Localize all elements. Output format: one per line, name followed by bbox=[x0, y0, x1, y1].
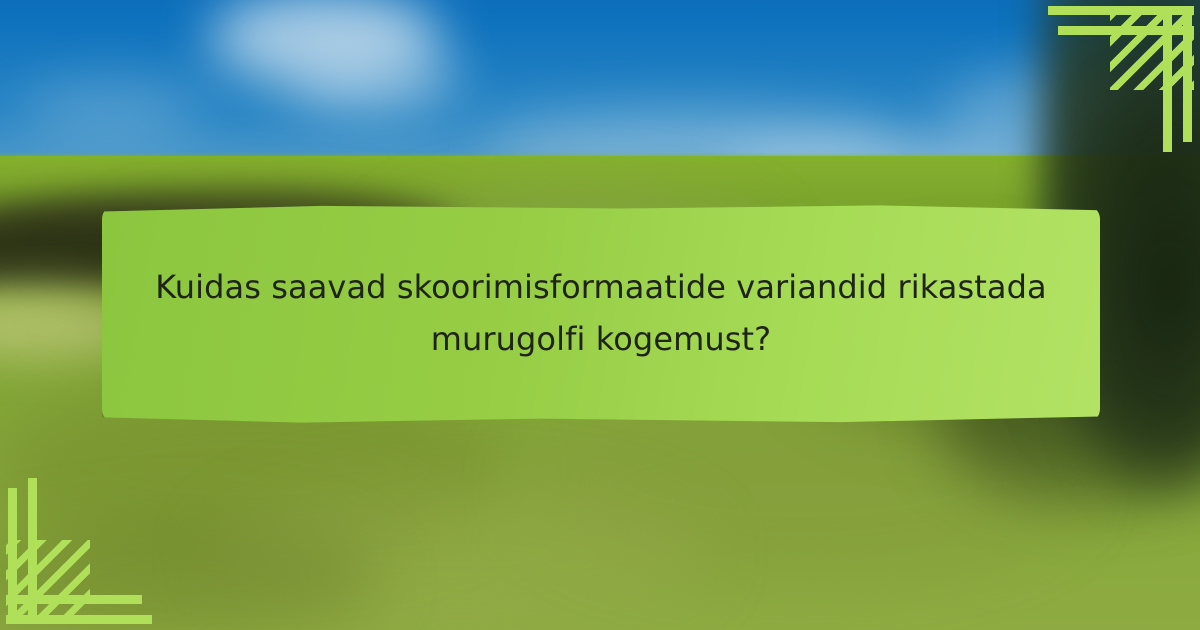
ornament-hatch bbox=[6, 540, 90, 624]
corner-ornament-bottom-left bbox=[0, 460, 170, 630]
headline-text: Kuidas saavad skoorimisformaatide varian… bbox=[102, 262, 1100, 366]
cloud-shape bbox=[290, 45, 460, 115]
headline-card: Kuidas saavad skoorimisformaatide varian… bbox=[102, 205, 1100, 423]
cloud-shape bbox=[20, 80, 200, 140]
ornament-hatch bbox=[1110, 6, 1194, 90]
corner-ornament-top-right bbox=[1030, 0, 1200, 170]
social-card-canvas: Kuidas saavad skoorimisformaatide varian… bbox=[0, 0, 1200, 630]
